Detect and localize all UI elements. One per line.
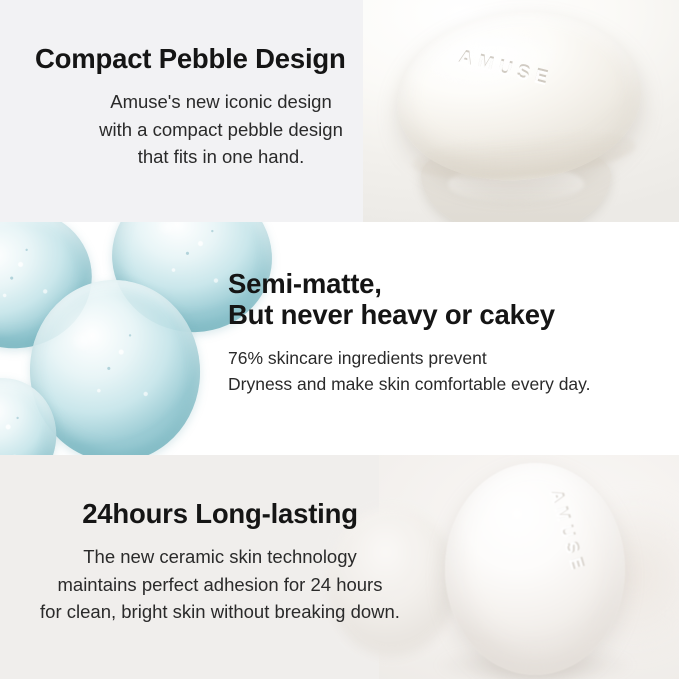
- brand-emboss-logo: AMUSE: [546, 488, 589, 577]
- panel-compact-pebble-design: AMUSE Compact Pebble Design Amuse's new …: [0, 0, 679, 222]
- compact-lid: AMUSE: [390, 2, 648, 191]
- panel-2-text-block: Semi-matte, But never heavy or cakey 76%…: [228, 269, 668, 397]
- panel-1-headline: Compact Pebble Design: [0, 44, 390, 75]
- product-feature-sheet: AMUSE Compact Pebble Design Amuse's new …: [0, 0, 679, 679]
- panel-3-headline: 24hours Long-lasting: [0, 499, 440, 530]
- panel-24hours-long-lasting: AMUSE 24hours Long-lasting The new ceram…: [0, 455, 679, 679]
- compact-body: AMUSE: [445, 463, 625, 675]
- panel-1-text-block: Compact Pebble Design Amuse's new iconic…: [0, 44, 390, 171]
- panel-2-headline: Semi-matte, But never heavy or cakey: [228, 269, 668, 331]
- panel-3-text-block: 24hours Long-lasting The new ceramic ski…: [0, 499, 440, 626]
- panel-3-body: The new ceramic skin technology maintain…: [0, 543, 440, 626]
- panel-semi-matte: Semi-matte, But never heavy or cakey 76%…: [0, 222, 679, 455]
- panel-2-body: 76% skincare ingredients prevent Dryness…: [228, 345, 668, 398]
- product-photo-compact-open: AMUSE: [363, 0, 679, 222]
- panel-1-body: Amuse's new iconic design with a compact…: [0, 88, 390, 171]
